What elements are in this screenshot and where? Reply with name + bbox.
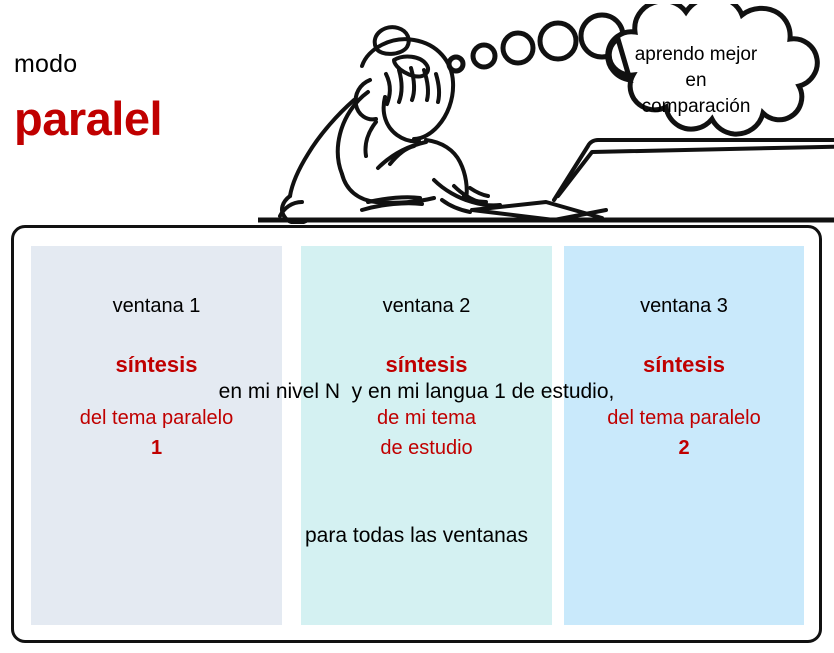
- panel-footer-note: en mi nivel N y en mi langua 1 de estudi…: [11, 272, 822, 608]
- mode-name-title: paralel: [14, 92, 162, 146]
- header-area: modo paralel: [0, 0, 834, 222]
- thought-bubble-text: aprendo mejor en comparación: [590, 42, 802, 120]
- footer-note-line-1: en mi nivel N y en mi langua 1 de estudi…: [11, 368, 822, 416]
- footer-note-line-2: para todas las ventanas: [11, 512, 822, 560]
- thought-bubble-line-3: comparación: [590, 94, 802, 120]
- thought-bubble-line-1: aprendo mejor: [590, 42, 802, 68]
- thought-bubble-line-2: en: [590, 68, 802, 94]
- mode-label: modo: [14, 50, 77, 78]
